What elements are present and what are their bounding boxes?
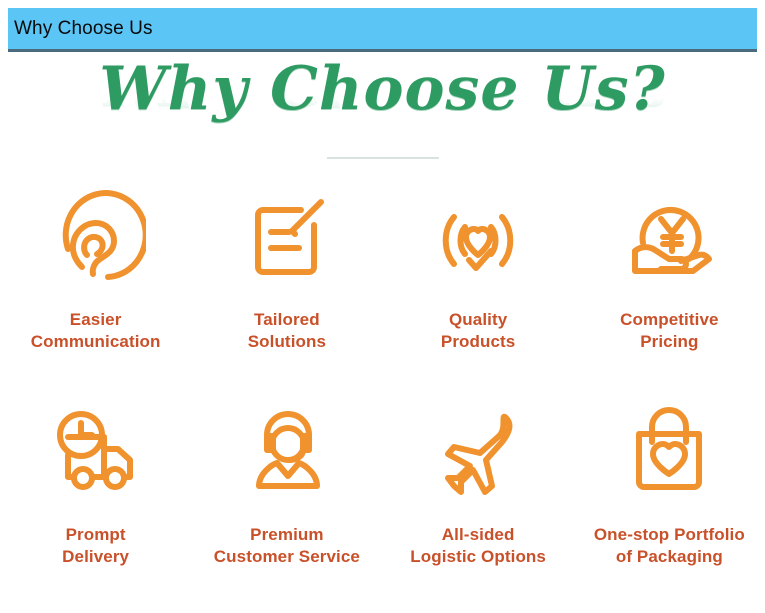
window-title: Why Choose Us [8,19,153,38]
feature-card-all-sided-logistic-options[interactable]: All-sided Logistic Options [383,398,574,613]
ear-listening-icon [46,189,146,289]
feature-label: All-sided Logistic Options [410,524,546,569]
window-header-bar: Why Choose Us [8,8,757,52]
feature-label: Tailored Solutions [248,309,326,354]
feature-card-quality-products[interactable]: Quality Products [383,183,574,398]
feature-card-easier-communication[interactable]: Easier Communication [0,183,191,398]
feature-label: Competitive Pricing [620,309,718,354]
feature-card-premium-customer-service[interactable]: Premium Customer Service [191,398,382,613]
page-content: Why Choose Us? Why Choose Us? Easier Com… [0,55,765,599]
document-pencil-icon [237,189,337,289]
feature-grid: Easier Communication Tailored Solutions [0,183,765,613]
feature-card-prompt-delivery[interactable]: Prompt Delivery [0,398,191,613]
hand-yen-coin-icon [619,189,719,289]
hero-section: Why Choose Us? Why Choose Us? [0,55,765,163]
airplane-icon [428,402,528,502]
feature-label: Prompt Delivery [62,524,129,569]
feature-label: Easier Communication [31,309,161,354]
hero-divider [327,157,439,159]
feature-label: One-stop Portfolio of Packaging [594,524,745,569]
hero-title-wrap: Why Choose Us? Why Choose Us? [99,59,665,139]
feature-label: Quality Products [441,309,515,354]
page-title-reflection: Why Choose Us? [99,87,665,113]
delivery-truck-clock-icon [46,402,146,502]
feature-card-competitive-pricing[interactable]: Competitive Pricing [574,183,765,398]
feature-label: Premium Customer Service [214,524,360,569]
feature-card-tailored-solutions[interactable]: Tailored Solutions [191,183,382,398]
feature-card-one-stop-portfolio-of-packaging[interactable]: One-stop Portfolio of Packaging [574,398,765,613]
shopping-bag-heart-icon [619,402,719,502]
headset-agent-icon [237,402,337,502]
heart-soundwaves-check-icon [428,189,528,289]
